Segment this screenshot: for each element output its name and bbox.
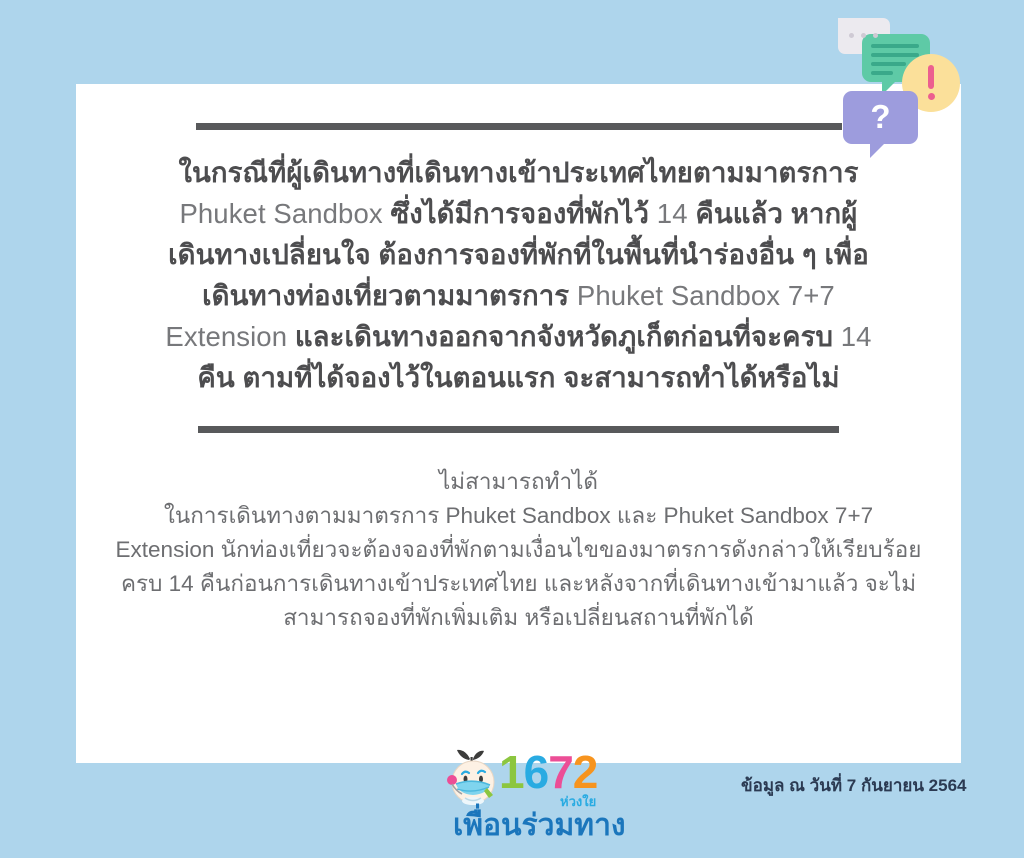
question-segment: และเดินทางออกจากจังหวัดภูเก็ตก่อนที่จะคร… [295,321,841,352]
logo-digit: 1 [499,746,524,798]
content-card: ในกรณีที่ผู้เดินทางที่เดินทางเข้าประเทศไ… [76,84,961,763]
data-as-of-date: ข้อมูล ณ วันที่ 7 กันยายน 2564 [741,772,967,799]
answer-line: สามารถจองที่พักเพิ่มเติม หรือเปลี่ยนสถาน… [89,601,949,635]
bubble-line [871,53,919,57]
answer-line: ครบ 14 คืนก่อนการเดินทางเข้าประเทศไทย แล… [89,567,949,601]
message-bubble-icon [862,34,930,82]
typing-dot [861,33,866,38]
question-line: Phuket Sandbox ซึ่งได้มีการจองที่พักไว้ … [109,193,929,234]
question-segment: เดินทางเปลี่ยนใจ ต้องการจองที่พักที่ในพื… [168,239,869,270]
logo-digit: 6 [524,746,549,798]
question-segment: เดินทางท่องเที่ยวตามมาตรการ [202,280,577,311]
typing-dot [849,33,854,38]
logo-tagline: เพื่อนร่วมทาง [453,802,626,849]
bubble-line [871,44,919,48]
question-line: คืน ตามที่ได้จองไว้ในตอนแรก จะสามารถทำได… [109,357,929,398]
bubble-line [871,62,906,66]
divider-bottom [198,426,839,433]
question-segment: คืน ตามที่ได้จองไว้ในตอนแรก จะสามารถทำได… [197,362,839,393]
answer-line: Extension นักท่องเที่ยวจะต้องจองที่พักตา… [89,533,949,567]
typing-dot [873,33,878,38]
question-line: ในกรณีที่ผู้เดินทางที่เดินทางเข้าประเทศไ… [109,152,929,193]
question-segment: Phuket Sandbox 7+7 [577,280,835,311]
answer-text: ไม่สามารถทำได้ในการเดินทางตามมาตรการ Phu… [89,465,949,635]
bubble-line [871,71,893,75]
question-line: เดินทางเปลี่ยนใจ ต้องการจองที่พักที่ในพื… [109,234,929,275]
typing-bubble-icon [838,18,890,54]
answer-line: ในการเดินทางตามมาตรการ Phuket Sandbox แล… [89,499,949,533]
question-segment: Phuket Sandbox [179,198,390,229]
question-segment: ซึ่งได้มีการจองที่พักไว้ [390,198,656,229]
question-segment: คืนแล้ว หากผู้ [695,198,857,229]
bubble-tail [838,18,849,46]
question-segment: 14 [657,198,696,229]
divider-top [196,123,842,130]
question-text: ในกรณีที่ผู้เดินทางที่เดินทางเข้าประเทศไ… [109,152,929,398]
brand-logo: 1672 ห่วงใย เพื่อนร่วมทาง [443,746,603,846]
mascot-icon [443,748,505,808]
question-line: เดินทางท่องเที่ยวตามมาตรการ Phuket Sandb… [109,275,929,316]
question-line: Extension และเดินทางออกจากจังหวัดภูเก็ตก… [109,316,929,357]
question-segment: 14 [841,321,872,352]
answer-line: ไม่สามารถทำได้ [89,465,949,499]
question-segment: ในกรณีที่ผู้เดินทางที่เดินทางเข้าประเทศไ… [178,157,858,188]
question-segment: Extension [165,321,294,352]
